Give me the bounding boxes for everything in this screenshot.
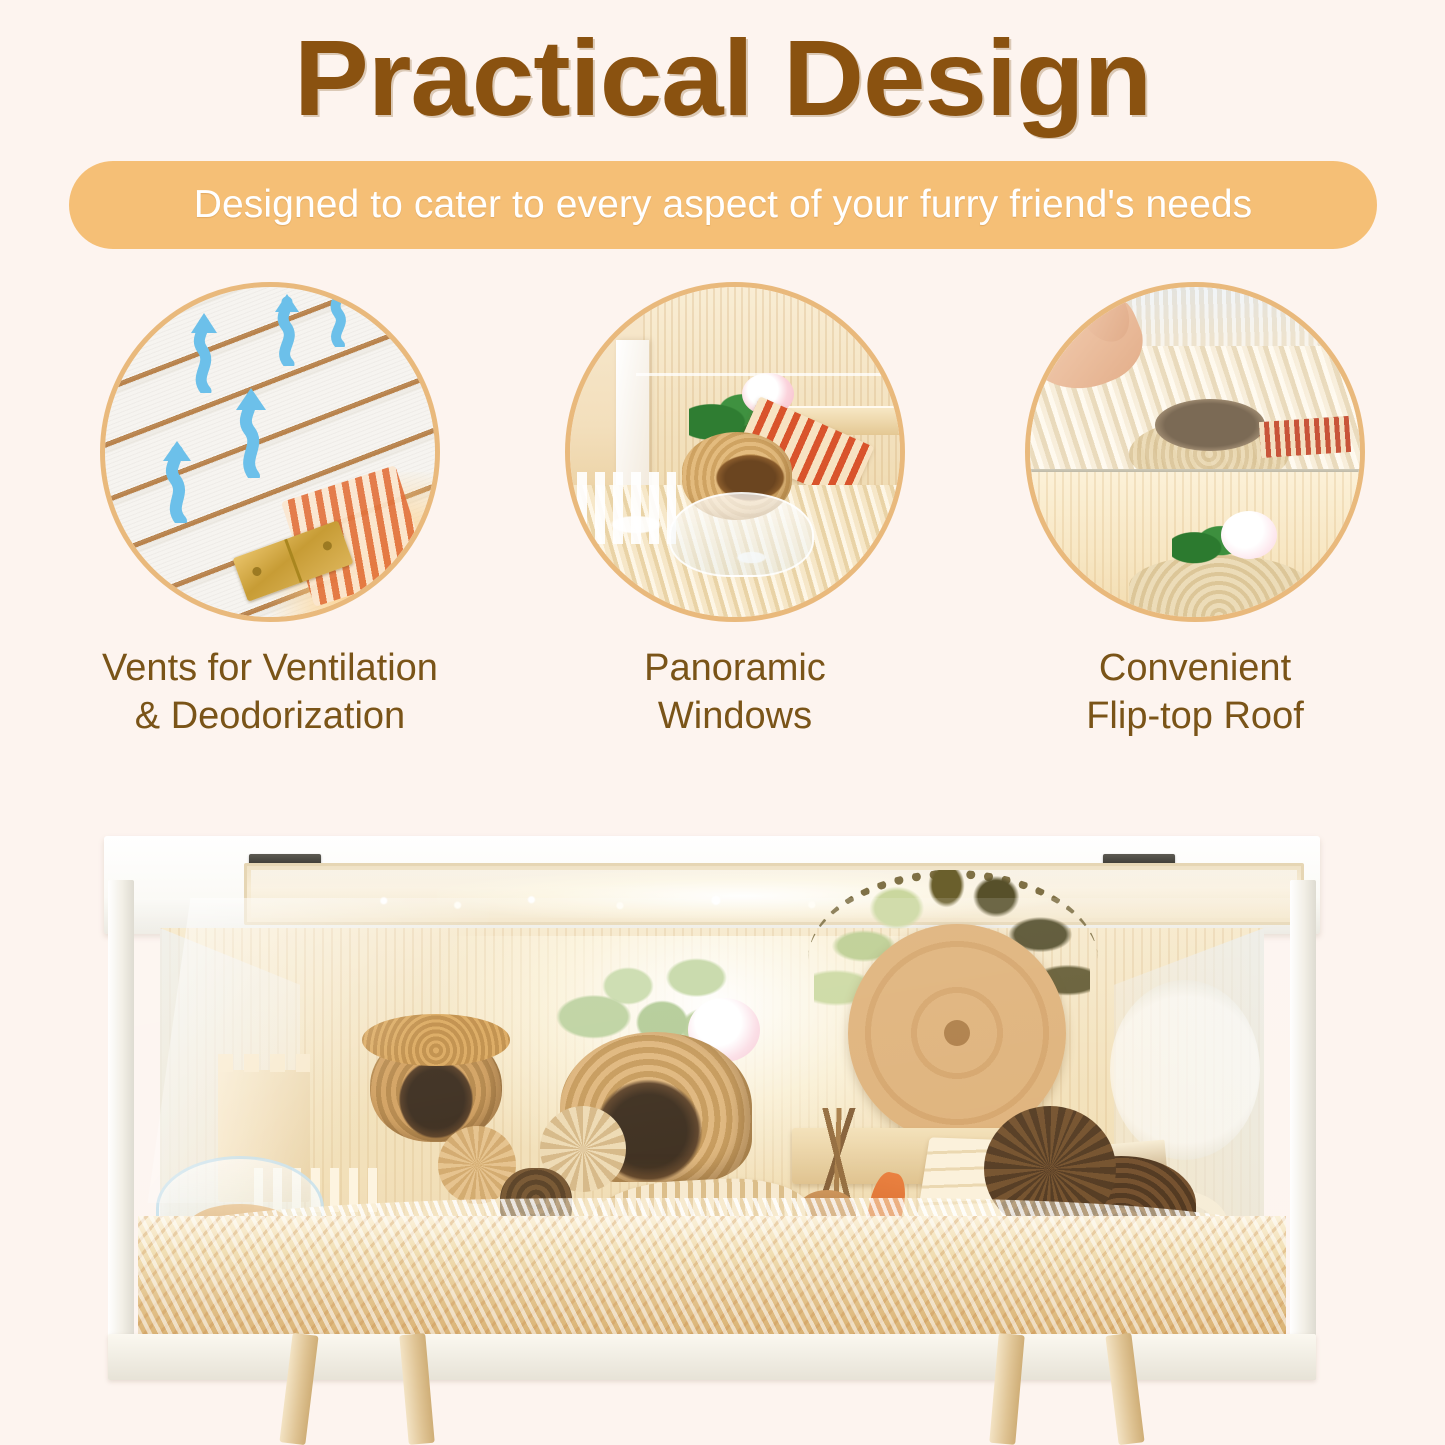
caption-line-2: & Deodorization bbox=[60, 692, 480, 740]
moss-top bbox=[362, 1014, 510, 1066]
airflow-arrow-icon bbox=[178, 313, 234, 393]
hand-lifting-lid bbox=[1030, 287, 1162, 426]
frame-post-left bbox=[108, 880, 134, 1380]
product-photo bbox=[0, 760, 1445, 1445]
glass-sand-bath bbox=[669, 492, 814, 578]
feature-ventilation-image bbox=[100, 282, 440, 622]
page-title: Practical Design bbox=[0, 18, 1445, 138]
feature-flip-top-caption: Convenient Flip-top Roof bbox=[985, 644, 1405, 740]
wheel-hub bbox=[944, 1020, 970, 1046]
caption-line-1: Panoramic bbox=[525, 644, 945, 692]
airflow-arrow-icon bbox=[151, 439, 207, 523]
wheel-reflection bbox=[1110, 980, 1260, 1160]
caption-line-1: Vents for Ventilation bbox=[60, 644, 480, 692]
feature-ventilation-caption: Vents for Ventilation & Deodorization bbox=[60, 644, 480, 740]
feature-row: Vents for Ventilation & Deodorization bbox=[0, 282, 1445, 752]
feature-panoramic-image bbox=[565, 282, 905, 622]
feature-ventilation: Vents for Ventilation & Deodorization bbox=[60, 282, 480, 740]
airflow-arrow-icon bbox=[224, 386, 280, 478]
wood-shavings-bedding bbox=[138, 1216, 1286, 1334]
feature-panoramic-windows: Panoramic Windows bbox=[525, 282, 945, 740]
frame-post-right bbox=[1290, 880, 1316, 1380]
airflow-arrow-icon bbox=[263, 294, 315, 366]
feature-flip-top-roof: Convenient Flip-top Roof bbox=[985, 282, 1405, 740]
caption-line-2: Flip-top Roof bbox=[985, 692, 1405, 740]
tunnel-opening bbox=[1155, 399, 1265, 451]
white-picket-fence bbox=[577, 472, 676, 545]
subtitle-banner: Designed to cater to every aspect of you… bbox=[69, 161, 1377, 249]
cage-body bbox=[108, 880, 1316, 1380]
airflow-arrow-icon bbox=[316, 287, 364, 347]
feature-flip-top-image bbox=[1025, 282, 1365, 622]
subtitle-text: Designed to cater to every aspect of you… bbox=[194, 183, 1253, 227]
feature-panoramic-caption: Panoramic Windows bbox=[525, 644, 945, 740]
caption-line-2: Windows bbox=[525, 692, 945, 740]
red-rung-ladder bbox=[1259, 416, 1351, 458]
caption-line-1: Convenient bbox=[985, 644, 1405, 692]
hinge-pivot-line bbox=[284, 539, 303, 583]
rattan-hideout-small bbox=[370, 1030, 502, 1142]
